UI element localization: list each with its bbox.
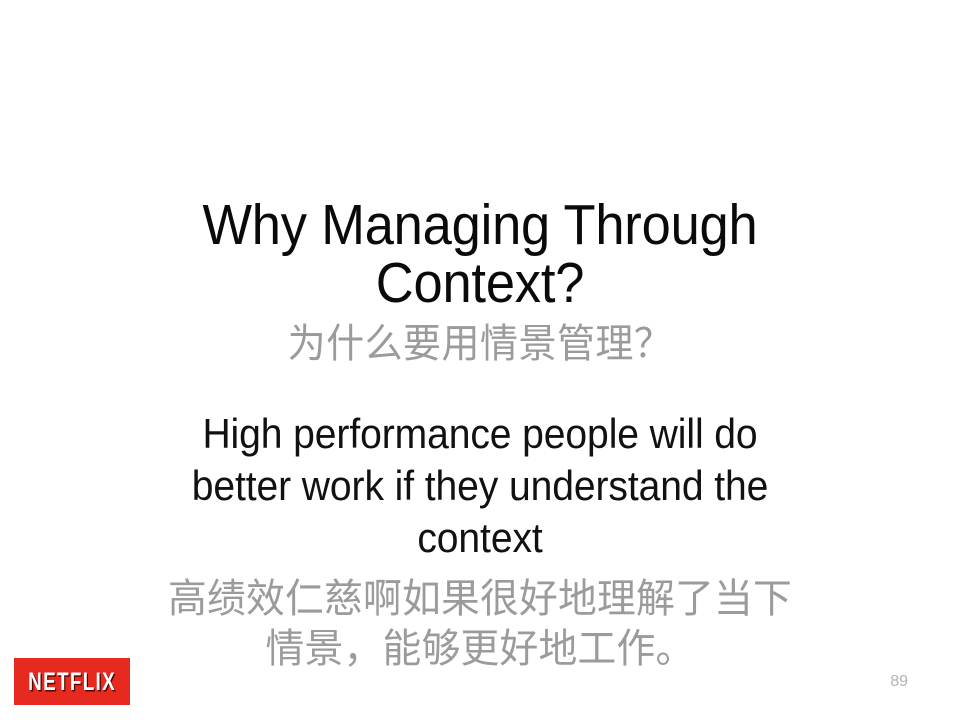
netflix-logo: NETFLIX <box>14 658 130 705</box>
slide-body-block: High performance people will do better w… <box>130 408 830 674</box>
netflix-wordmark-text: NETFLIX <box>28 667 116 696</box>
page-number: 89 <box>890 673 908 691</box>
page-title-translation: 为什么要用情景管理？ <box>148 320 813 368</box>
page-title: Why Managing Through Context? <box>158 196 802 312</box>
body-statement-translation: 高绩效仁慈啊如果很好地理解了当下情景，能够更好地工作。 <box>160 574 800 674</box>
body-statement: High performance people will do better w… <box>155 408 806 564</box>
presentation-slide: Why Managing Through Context? 为什么要用情景管理？… <box>0 0 960 720</box>
slide-title-block: Why Managing Through Context? 为什么要用情景管理？ <box>130 196 830 368</box>
